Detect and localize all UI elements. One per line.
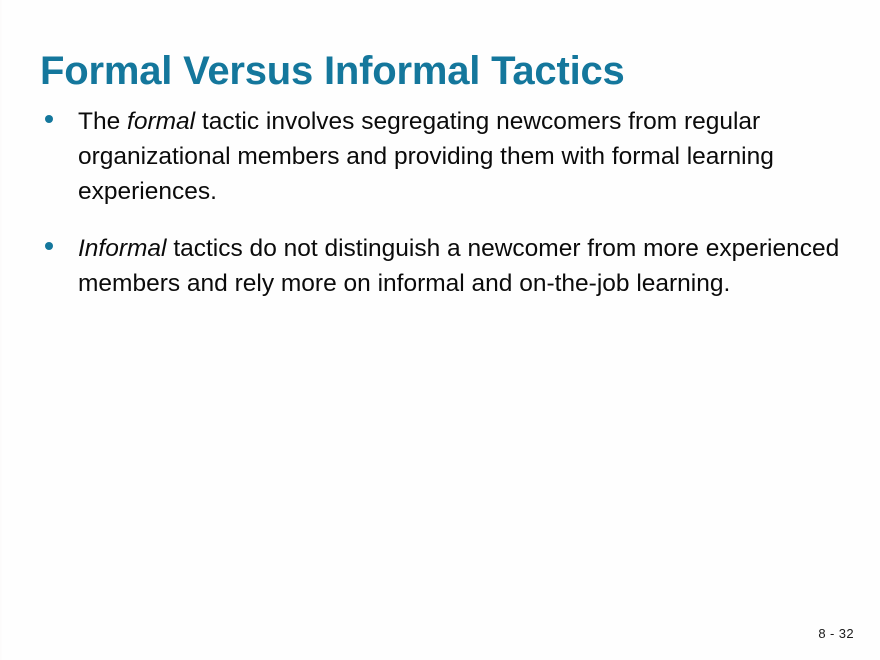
presentation-slide: Formal Versus Informal Tactics The forma… [0,0,880,660]
page-number: 8 - 32 [818,626,854,641]
bullet-text-1: The formal tactic involves segregating n… [78,104,850,209]
bullet-dot-icon [45,115,53,123]
bullet-dot-icon [45,242,53,250]
list-item: The formal tactic involves segregating n… [40,104,850,209]
bullet-text-2: Informal tactics do not distinguish a ne… [78,231,850,301]
list-item: Informal tactics do not distinguish a ne… [40,231,850,301]
slide-body: The formal tactic involves segregating n… [40,104,850,323]
page-title: Formal Versus Informal Tactics [40,49,625,93]
